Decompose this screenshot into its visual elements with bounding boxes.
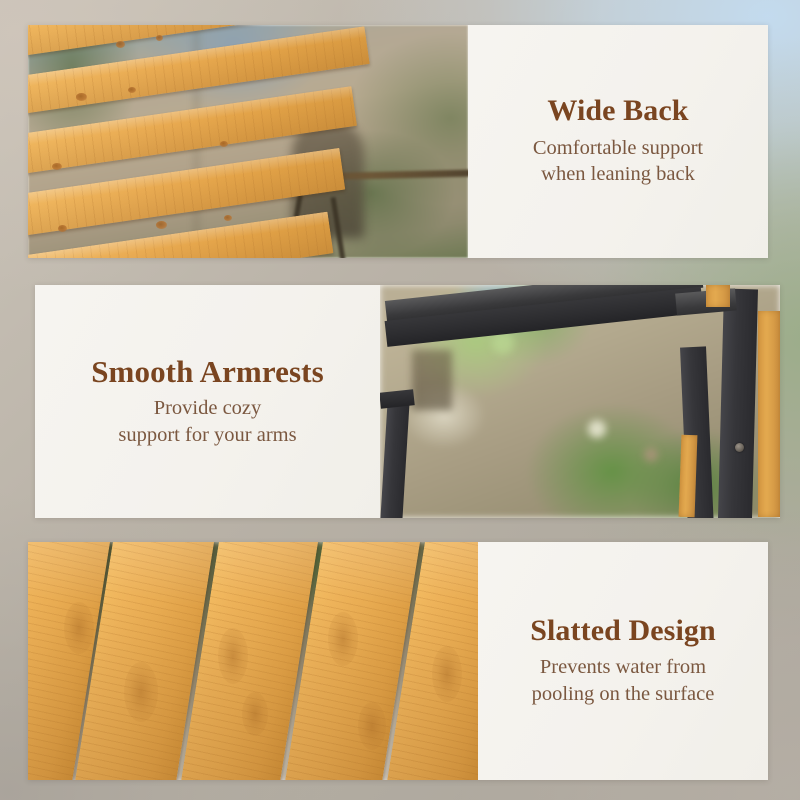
blurred-stone-window <box>412 350 452 410</box>
wood-knot <box>156 35 163 41</box>
wood-grain <box>358 702 386 750</box>
wood-grain <box>124 662 158 722</box>
photo-smooth-armrests <box>380 285 780 518</box>
wood-grain <box>432 646 462 702</box>
photo-wide-back <box>28 25 468 258</box>
wood-grain <box>328 612 358 666</box>
caption-wide-back: Wide Back Comfortable support when leani… <box>468 25 768 258</box>
screw-head-icon <box>735 443 744 452</box>
wood-grain <box>64 602 94 654</box>
feature-title: Smooth Armrests <box>91 355 324 388</box>
wood-knot <box>224 215 232 221</box>
wood-knot <box>220 141 228 147</box>
wood-slat-edge <box>706 285 730 307</box>
backrest-slats <box>28 25 468 258</box>
wood-knot <box>76 93 87 101</box>
wood-grain <box>242 692 268 736</box>
wood-knot <box>52 163 62 170</box>
feature-subtitle: Prevents water from pooling on the surfa… <box>530 654 716 707</box>
wood-slat-edge <box>679 435 698 518</box>
feature-panel-slatted-design: Slatted Design Prevents water from pooli… <box>28 542 768 780</box>
bokeh-highlight <box>588 420 606 438</box>
wood-slat-edge <box>758 311 780 517</box>
armrest-rear-post <box>718 289 758 518</box>
caption-smooth-armrests: Smooth Armrests Provide cozy support for… <box>35 285 380 518</box>
wood-knot <box>116 41 125 48</box>
wood-knot <box>58 225 67 232</box>
bokeh-highlight <box>644 448 658 462</box>
feature-title: Slatted Design <box>530 615 716 647</box>
photo-slatted-design <box>28 542 478 780</box>
wood-grain <box>218 628 248 684</box>
feature-panel-wide-back: Wide Back Comfortable support when leani… <box>28 25 768 258</box>
feature-panel-smooth-armrests: Smooth Armrests Provide cozy support for… <box>35 285 780 518</box>
feature-infographic: Wide Back Comfortable support when leani… <box>0 0 800 800</box>
feature-title: Wide Back <box>533 95 703 127</box>
feature-subtitle: Comfortable support when leaning back <box>533 135 703 188</box>
feature-subtitle: Provide cozy support for your arms <box>91 395 324 448</box>
wood-knot <box>128 87 136 93</box>
caption-slatted-design: Slatted Design Prevents water from pooli… <box>478 542 768 780</box>
wood-knot <box>156 221 167 229</box>
